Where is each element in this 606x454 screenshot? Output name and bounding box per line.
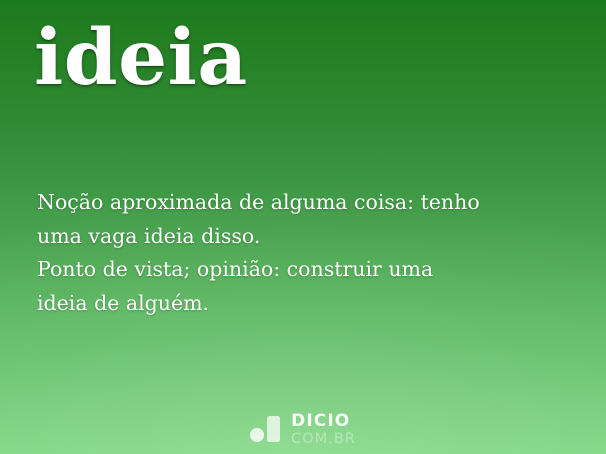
logo-secondary-text: COM.BR (291, 432, 356, 447)
definition-line: ideia de alguém. (37, 287, 577, 321)
logo-primary-text: DICIO (291, 413, 356, 430)
definition-line: uma vaga ideia disso. (37, 220, 577, 254)
definition-card: ideia Noção aproximada de alguma coisa: … (0, 0, 606, 454)
definition-line: Noção aproximada de alguma coisa: tenho (37, 186, 577, 220)
definition-line: Ponto de vista; opinião: construir uma (37, 253, 577, 287)
logo-circle-shape (250, 428, 264, 442)
dicio-bar-dot-logo-icon (250, 414, 282, 444)
dicio-logo[interactable]: DICIO COM.BR (0, 413, 606, 447)
definition-text: Noção aproximada de alguma coisa: tenho … (37, 186, 577, 320)
page-title: ideia (34, 15, 248, 101)
logo-wordmark: DICIO COM.BR (291, 413, 356, 447)
logo-bar-shape (267, 416, 280, 442)
